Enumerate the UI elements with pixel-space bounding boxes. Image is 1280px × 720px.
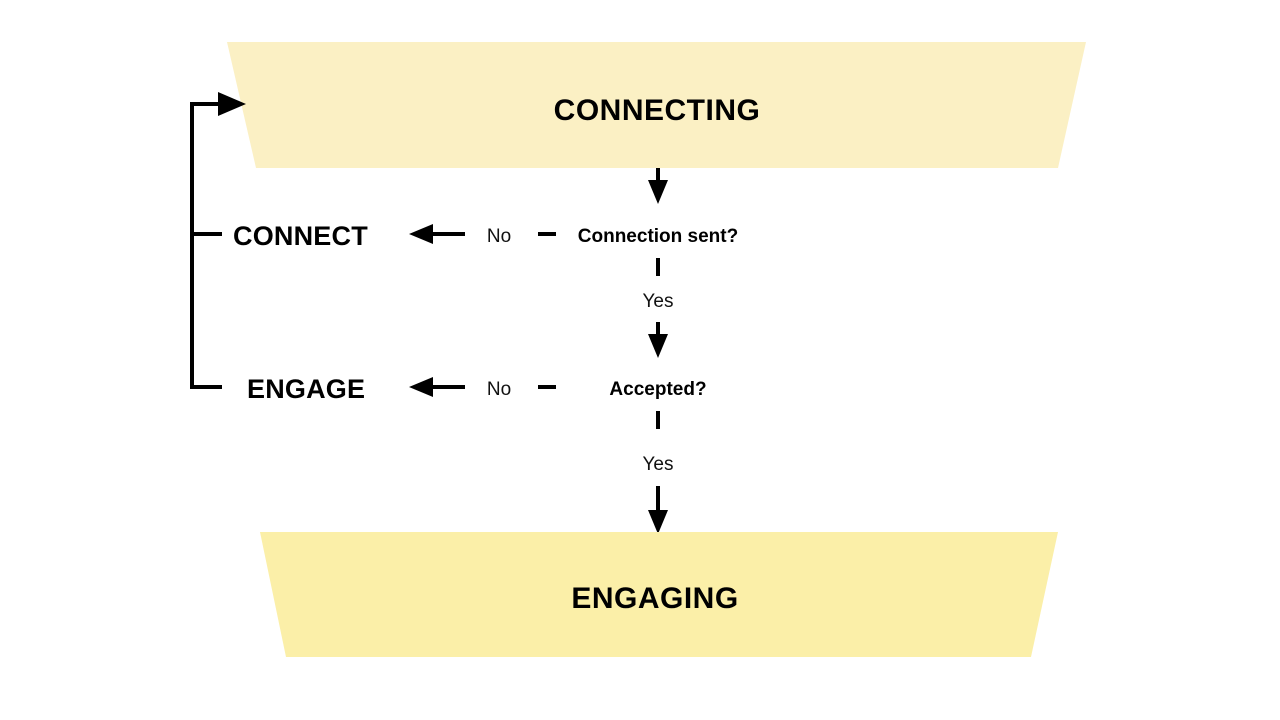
arrowhead-no-to-connect [409, 224, 433, 244]
edge-label-yes-1: Yes [643, 291, 674, 312]
action-engage-label: ENGAGE [247, 374, 365, 404]
decision-accepted-label: Accepted? [609, 379, 706, 400]
arrowhead-no-to-engage [409, 377, 433, 397]
action-connect-label: CONNECT [233, 221, 368, 251]
flowchart-svg: CONNECTING Connection sent? No CONNECT Y… [0, 0, 1280, 720]
edge-label-no-2: No [487, 379, 511, 400]
flowchart-canvas: CONNECTING Connection sent? No CONNECT Y… [0, 0, 1280, 720]
arrowhead-connecting-to-connection-sent [648, 180, 668, 204]
edge-label-no-1: No [487, 226, 511, 247]
decision-connection-sent-label: Connection sent? [578, 226, 738, 247]
banner-connecting-label: CONNECTING [554, 94, 761, 127]
arrowhead-yes-to-engaging [648, 510, 668, 534]
arrowhead-yes-to-accepted [648, 334, 668, 358]
banner-engaging-label: ENGAGING [571, 582, 738, 615]
edge-label-yes-2: Yes [643, 454, 674, 475]
